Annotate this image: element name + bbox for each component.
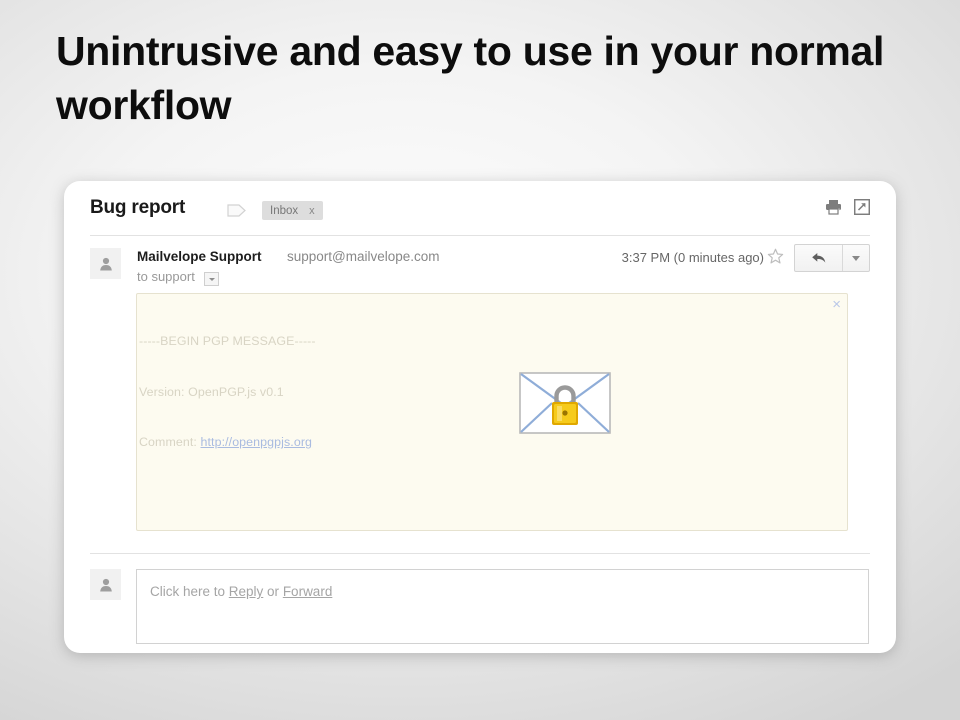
sender-name[interactable]: Mailvelope Support: [137, 249, 262, 264]
open-in-new-window-icon[interactable]: [854, 199, 870, 215]
avatar: [90, 248, 121, 279]
person-icon: [98, 256, 114, 272]
pgp-comment-prefix: Comment:: [139, 435, 201, 449]
inbox-label-text: Inbox: [270, 205, 298, 217]
reply-avatar: [90, 569, 121, 600]
pgp-begin-marker: -----BEGIN PGP MESSAGE-----: [139, 333, 841, 350]
pgp-comment-line: Comment: http://openpgpjs.org: [139, 434, 841, 451]
reply-button[interactable]: [795, 245, 843, 271]
subject-row: Bug report Inbox x: [90, 197, 870, 237]
header-divider: [90, 235, 870, 236]
star-icon[interactable]: [767, 248, 784, 265]
recipient-line: to support: [137, 269, 195, 284]
pgp-message-frame[interactable]: × -----BEGIN PGP MESSAGE----- Version: O…: [136, 293, 848, 531]
reply-link[interactable]: Reply: [229, 584, 264, 599]
header-actions: [825, 199, 870, 215]
reply-prompt: Click here to Reply or Forward: [150, 584, 332, 599]
sender-email[interactable]: support@mailvelope.com: [287, 249, 440, 264]
email-subject: Bug report: [90, 197, 185, 219]
openpgpjs-link[interactable]: http://openpgpjs.org: [201, 435, 313, 449]
slide-title: Unintrusive and easy to use in your norm…: [56, 24, 886, 132]
email-timestamp: 3:37 PM (0 minutes ago): [622, 250, 764, 265]
gmail-screenshot-card: Bug report Inbox x: [64, 181, 896, 653]
reply-prompt-prefix: Click here to: [150, 584, 229, 599]
label-tag-icon[interactable]: [227, 204, 246, 217]
forward-link[interactable]: Forward: [283, 584, 333, 599]
reply-prompt-middle: or: [263, 584, 283, 599]
more-options-button[interactable]: [843, 245, 869, 271]
print-icon[interactable]: [825, 199, 842, 215]
reply-area: Click here to Reply or Forward: [90, 569, 870, 645]
inbox-label-chip[interactable]: Inbox x: [262, 201, 323, 220]
recipient-details-toggle[interactable]: [204, 272, 219, 286]
reply-button-group: [794, 244, 870, 272]
remove-label-icon[interactable]: x: [309, 205, 315, 217]
pgp-message-text: -----BEGIN PGP MESSAGE----- Version: Ope…: [139, 299, 841, 531]
pgp-blank-line: [139, 485, 841, 502]
reply-divider: [90, 553, 870, 554]
reply-input-box[interactable]: Click here to Reply or Forward: [136, 569, 869, 644]
person-icon: [98, 577, 114, 593]
reply-arrow-icon: [811, 251, 827, 265]
encrypted-envelope-lock-icon[interactable]: [519, 372, 611, 434]
pgp-version-line: Version: OpenPGP.js v0.1: [139, 384, 841, 401]
